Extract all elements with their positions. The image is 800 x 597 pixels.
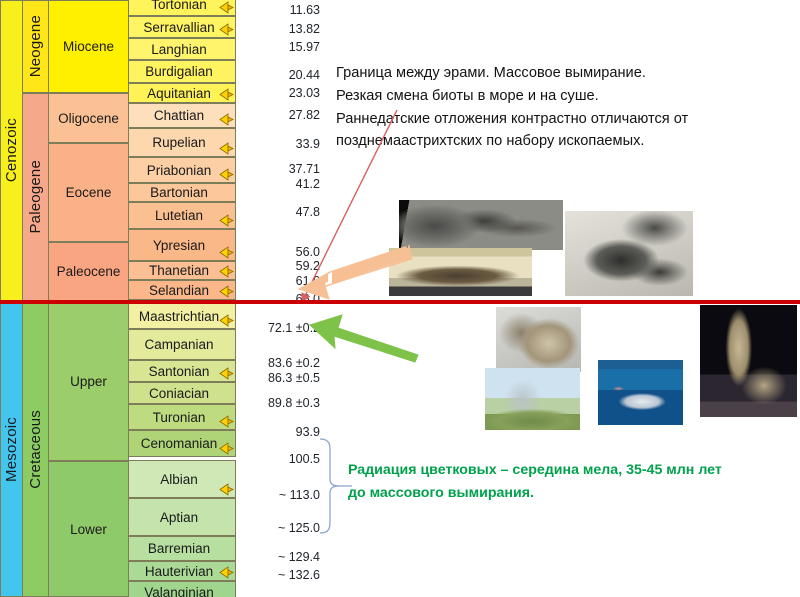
age-value: 23.03 — [289, 86, 320, 100]
photo-plesiosaur-sea — [598, 360, 683, 425]
stage-cell-aquitanian: Aquitanian — [128, 83, 236, 103]
photo-fossil-slab-grey — [399, 200, 563, 250]
epoch-cell-upper: Upper — [48, 301, 129, 461]
gssp-golden-spike-icon — [219, 142, 234, 155]
period-cell-neogene: Neogene — [22, 0, 49, 93]
green-annotation-text: Радиация цветковых – середина мела, 35-4… — [348, 459, 778, 504]
stage-cell-chattian: Chattian — [128, 103, 236, 128]
stage-cell-cenomanian: Cenomanian — [128, 430, 236, 457]
photo-inoceramus-shell — [496, 307, 581, 372]
epoch-cell-eocene: Eocene — [48, 143, 129, 242]
stage-cell-thanetian: Thanetian — [128, 261, 236, 280]
epoch-cell-label: Eocene — [66, 185, 112, 200]
gssp-golden-spike-icon — [219, 214, 234, 227]
stage-cell-burdigalian: Burdigalian — [128, 60, 236, 83]
stage-cell-label: Aptian — [160, 510, 198, 525]
photo-sauropod-skeleton — [700, 305, 797, 417]
gssp-golden-spike-icon — [219, 367, 234, 380]
stage-cell-serravallian: Serravallian — [128, 16, 236, 38]
stage-cell-label: Maastrichtian — [139, 309, 219, 324]
gssp-golden-spike-icon — [219, 23, 234, 36]
period-cell-cretaceous: Cretaceous — [22, 301, 49, 597]
stage-cell-tortonian: Tortonian — [128, 0, 236, 16]
gssp-golden-spike-icon — [219, 246, 234, 259]
stage-cell-aptian: Aptian — [128, 498, 236, 536]
stage-cell-priabonian: Priabonian — [128, 157, 236, 183]
stage-cell-label: Cenomanian — [141, 436, 218, 451]
stage-cell-label: Campanian — [144, 337, 213, 352]
period-cell-label: Neogene — [27, 15, 44, 77]
stage-cell-rupelian: Rupelian — [128, 128, 236, 157]
note-line: Граница между эрами. Массовое вымирание. — [336, 62, 792, 85]
orange-arrow-to-boundary — [288, 240, 413, 305]
epoch-cell-label: Paleocene — [57, 264, 121, 279]
era-cell-label: Cenozoic — [3, 118, 20, 182]
age-value: 89.8 ±0.3 — [268, 396, 320, 410]
photo-flamingo-bird — [694, 222, 766, 296]
gssp-golden-spike-icon — [219, 442, 234, 455]
period-cell-label: Cretaceous — [27, 410, 44, 489]
gssp-golden-spike-icon — [219, 566, 234, 579]
age-value: 20.44 — [289, 68, 320, 82]
stage-cell-barremian: Barremian — [128, 536, 236, 561]
stage-cell-valanginian: Valanginian — [128, 581, 236, 597]
stage-cell-label: Rupelian — [152, 135, 205, 150]
geologic-timescale-chart: CenozoicMesozoic NeogenePaleogeneCretace… — [0, 0, 236, 597]
stage-cell-label: Serravallian — [143, 20, 214, 35]
period-cell-label: Paleogene — [27, 160, 44, 234]
stage-cell-label: Valanginian — [144, 585, 214, 597]
stage-cell-bartonian: Bartonian — [128, 183, 236, 202]
epoch-cell-label: Miocene — [63, 39, 114, 54]
stage-cell-label: Lutetian — [155, 208, 203, 223]
age-value: 15.97 — [289, 40, 320, 54]
epoch-cell-miocene: Miocene — [48, 0, 129, 93]
period-cell-paleogene: Paleogene — [22, 93, 49, 301]
stage-cell-label: Albian — [160, 472, 198, 487]
stage-cell-selandian: Selandian — [128, 280, 236, 300]
gssp-golden-spike-icon — [219, 88, 234, 101]
stage-cell-label: Selandian — [149, 283, 209, 298]
era-cell-cenozoic: Cenozoic — [0, 0, 23, 301]
green-note-line: Радиация цветковых – середина мела, 35-4… — [348, 459, 778, 482]
stage-cell-label: Turonian — [153, 410, 206, 425]
stage-cell-label: Langhian — [151, 42, 207, 57]
gssp-golden-spike-icon — [219, 483, 234, 496]
photo-pterosaur-scene — [485, 368, 580, 430]
stage-cell-santonian: Santonian — [128, 360, 236, 382]
era-cell-label: Mesozoic — [3, 417, 20, 482]
era-cell-mesozoic: Mesozoic — [0, 301, 23, 597]
gssp-golden-spike-icon — [219, 415, 234, 428]
gssp-golden-spike-icon — [219, 265, 234, 278]
stage-cell-label: Burdigalian — [145, 64, 213, 79]
age-value: 13.82 — [289, 22, 320, 36]
gssp-golden-spike-icon — [219, 285, 234, 298]
stage-cell-label: Santonian — [149, 364, 210, 379]
epoch-cell-oligocene: Oligocene — [48, 93, 129, 143]
stage-cell-label: Hauterivian — [145, 564, 213, 579]
kpg-boundary-line — [0, 300, 800, 304]
stage-cell-label: Bartonian — [150, 185, 208, 200]
age-value: ~ 129.4 — [278, 550, 320, 564]
gssp-golden-spike-icon — [219, 1, 234, 14]
stage-cell-label: Aquitanian — [147, 86, 211, 101]
gssp-golden-spike-icon — [219, 113, 234, 126]
stage-cell-label: Thanetian — [149, 263, 209, 278]
age-value: ~ 132.6 — [278, 568, 320, 582]
gssp-golden-spike-icon — [219, 314, 234, 327]
epoch-cell-label: Upper — [70, 374, 107, 389]
stage-cell-ypresian: Ypresian — [128, 229, 236, 261]
stage-cell-maastrichtian: Maastrichtian — [128, 303, 236, 329]
stage-cell-label: Chattian — [154, 108, 204, 123]
gssp-golden-spike-icon — [219, 168, 234, 181]
stage-cell-label: Barremian — [148, 541, 210, 556]
epoch-cell-label: Lower — [70, 522, 107, 537]
age-value: 86.3 ±0.5 — [268, 371, 320, 385]
stage-cell-coniacian: Coniacian — [128, 382, 236, 404]
stage-cell-label: Ypresian — [153, 238, 205, 253]
stage-cell-lutetian: Lutetian — [128, 202, 236, 229]
photo-hadrosaur-model — [587, 306, 702, 362]
stage-cell-campanian: Campanian — [128, 329, 236, 360]
stage-cell-label: Coniacian — [149, 386, 209, 401]
epoch-cell-paleocene: Paleocene — [48, 242, 129, 301]
epoch-cell-lower: Lower — [48, 461, 129, 597]
stage-cell-label: Tortonian — [151, 0, 207, 12]
photo-fossil-mammal-grey — [565, 211, 693, 296]
stage-cell-albian: Albian — [128, 460, 236, 498]
stage-cell-turonian: Turonian — [128, 404, 236, 430]
stage-cell-hauterivian: Hauterivian — [128, 561, 236, 581]
stage-cell-langhian: Langhian — [128, 38, 236, 60]
age-value: 11.63 — [290, 3, 320, 17]
green-note-line: до массового вымирания. — [348, 482, 778, 505]
green-arrow-to-maastrichtian — [290, 303, 420, 363]
epoch-cell-label: Oligocene — [58, 111, 119, 126]
stage-cell-label: Priabonian — [147, 163, 212, 178]
